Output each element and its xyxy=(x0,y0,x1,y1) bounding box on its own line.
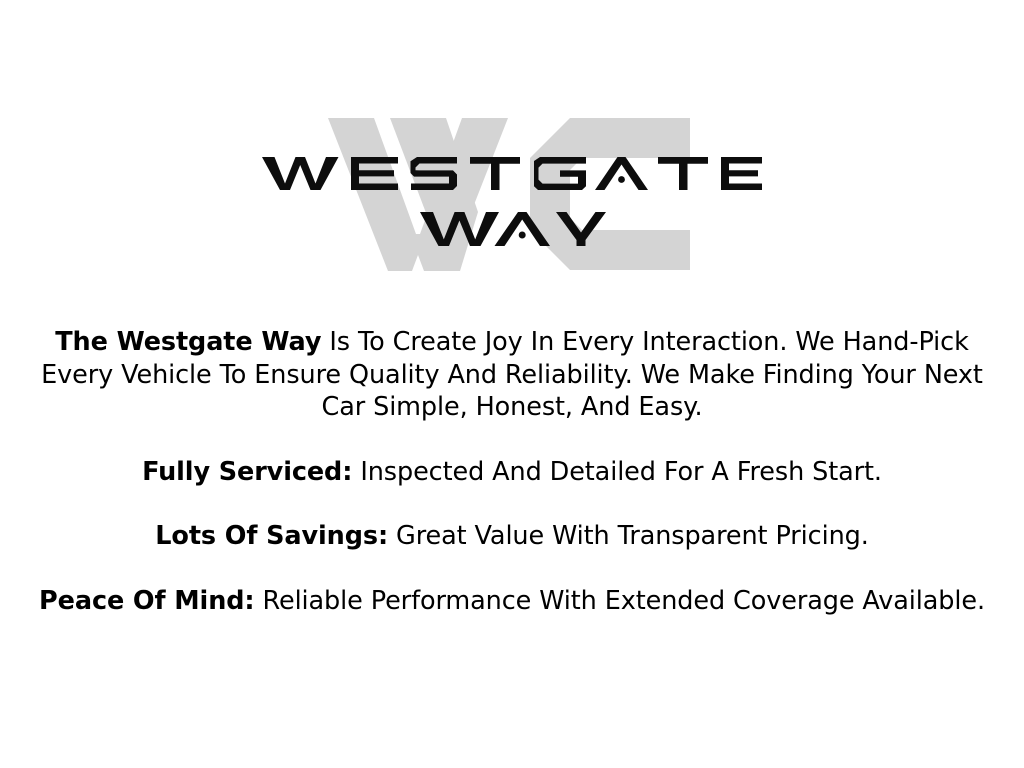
point-label: Lots Of Savings: xyxy=(155,521,388,551)
body-copy: The Westgate Way Is To Create Joy In Eve… xyxy=(0,326,1024,617)
point-text: Inspected And Detailed For A Fresh Start… xyxy=(352,457,882,487)
westgate-way-wordmark xyxy=(0,100,1024,290)
intro-lead: The Westgate Way xyxy=(55,327,321,357)
point-text: Reliable Performance With Extended Cover… xyxy=(255,586,985,616)
slide-canvas: The Westgate Way Is To Create Joy In Eve… xyxy=(0,0,1024,768)
point-text: Great Value With Transparent Pricing. xyxy=(388,521,869,551)
point-label: Fully Serviced: xyxy=(142,457,352,487)
point-fully-serviced: Fully Serviced: Inspected And Detailed F… xyxy=(0,456,1024,489)
point-lots-of-savings: Lots Of Savings: Great Value With Transp… xyxy=(0,520,1024,553)
brand-logo xyxy=(0,100,1024,290)
point-peace-of-mind: Peace Of Mind: Reliable Performance With… xyxy=(0,585,1024,618)
point-label: Peace Of Mind: xyxy=(39,586,254,616)
intro-paragraph: The Westgate Way Is To Create Joy In Eve… xyxy=(0,326,1024,424)
